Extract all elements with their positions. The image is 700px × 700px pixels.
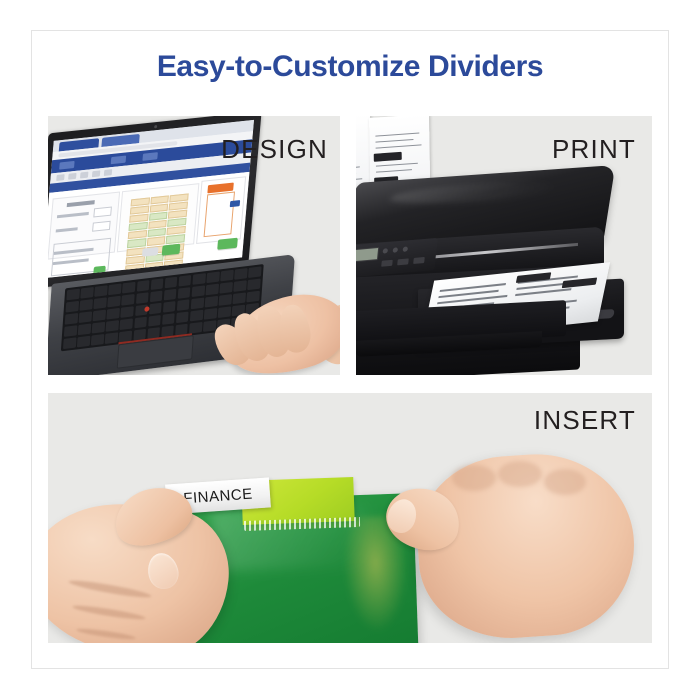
printer-button[interactable] [397, 258, 409, 265]
panel-print: PRINT [356, 116, 652, 375]
printer-button[interactable] [383, 248, 389, 253]
toolbar-icon [92, 170, 100, 177]
printer-lcd-display [356, 247, 379, 263]
printer-button[interactable] [381, 260, 393, 267]
toolbar-icon [80, 172, 88, 179]
panel-insert: FINANCE INSERT [48, 393, 652, 643]
preview-sheet [204, 192, 235, 238]
preview-action-button[interactable] [230, 200, 240, 207]
page-title: Easy-to-Customize Dividers [0, 50, 700, 84]
toolbar-icon [104, 169, 112, 176]
primary-action-button[interactable] [162, 244, 181, 256]
toolbar-icon [56, 174, 64, 181]
toolbar-icon [68, 173, 76, 180]
settings-form-pane [48, 191, 120, 259]
right-hand-holding-divider [378, 431, 652, 643]
left-hand-holding-label [48, 467, 258, 643]
form-heading [67, 200, 95, 207]
printer-button[interactable] [403, 246, 409, 251]
download-button[interactable] [93, 266, 106, 275]
printer-button[interactable] [413, 257, 425, 264]
panel-label-design: DESIGN [221, 134, 328, 165]
label-grid-pane [117, 183, 200, 252]
secondary-action-button[interactable] [217, 238, 238, 250]
panel-label-print: PRINT [552, 134, 636, 165]
product-feature-card: Easy-to-Customize Dividers [0, 0, 700, 700]
form-input [93, 206, 112, 217]
form-label [57, 212, 89, 218]
form-input [92, 221, 111, 232]
lid-highlight [388, 178, 557, 208]
printer-illustration [356, 160, 652, 375]
label-grid [123, 193, 189, 278]
panel-label-insert: INSERT [534, 405, 636, 436]
panel-design: DESIGN [48, 116, 340, 375]
form-label [56, 227, 78, 232]
webcam-icon [154, 125, 157, 128]
printer-button[interactable] [393, 247, 399, 252]
preview-pane [196, 176, 246, 244]
